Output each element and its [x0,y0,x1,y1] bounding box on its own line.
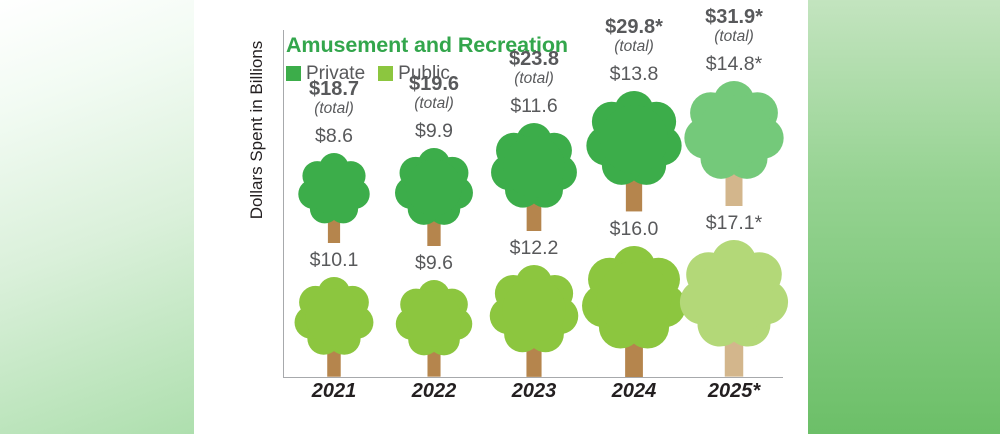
tree-private-2021 [297,153,371,243]
x-axis-label-2021: 2021 [284,380,384,403]
private-value-2021: $8.6 [284,127,384,147]
public-value-2024: $16.0 [584,220,684,240]
chart-plot-area: $10.1$8.6$18.7(total)2021$9.6$9.9$19.6(t… [284,0,784,434]
public-value-2023: $12.2 [484,239,584,259]
infographic-chart: Amusement and Recreation Private Public … [0,0,1000,434]
year-column-2024: $16.0$13.8$29.8*(total)2024 [584,0,684,434]
private-value-2022: $9.9 [384,122,484,142]
total-value-2021: $18.7 [284,79,384,100]
public-value-2022: $9.6 [384,254,484,274]
decorative-left-panel [0,0,194,434]
tree-private-2023 [490,123,579,232]
total-label-2024: $29.8*(total) [584,17,684,56]
year-column-2023: $12.2$11.6$23.8(total)2023 [484,0,584,434]
tree-private-2024 [585,91,684,211]
total-value-2024: $29.8* [584,17,684,38]
total-word-2024: (total) [584,38,684,56]
total-value-2023: $23.8 [484,49,584,70]
x-axis-label-2022: 2022 [384,380,484,403]
x-axis-label-2025: 2025* [684,380,784,403]
tree-public-2022 [394,280,473,377]
total-value-2022: $19.6 [384,74,484,95]
year-column-2022: $9.6$9.9$19.6(total)2022 [384,0,484,434]
tree-public-2024 [580,246,688,377]
x-axis-label-2023: 2023 [484,380,584,403]
total-word-2021: (total) [284,100,384,118]
tree-public-2023 [488,265,580,377]
x-axis-label-2024: 2024 [584,380,684,403]
total-label-2022: $19.6(total) [384,74,484,113]
public-value-2025: $17.1* [684,214,784,234]
year-column-2025: $17.1*$14.8*$31.9*(total)2025* [684,0,784,434]
tree-public-2021 [293,277,375,377]
tree-private-2022 [394,148,475,247]
year-column-2021: $10.1$8.6$18.7(total)2021 [284,0,384,434]
total-word-2023: (total) [484,70,584,88]
private-value-2023: $11.6 [484,97,584,117]
tree-public-2025 [678,240,790,377]
total-label-2025: $31.9*(total) [684,7,784,46]
private-value-2024: $13.8 [584,65,684,85]
total-label-2021: $18.7(total) [284,79,384,118]
public-value-2021: $10.1 [284,251,384,271]
decorative-right-panel [808,0,1000,434]
chart-panel: Amusement and Recreation Private Public … [194,0,808,434]
tree-private-2025 [683,81,786,207]
total-word-2025: (total) [684,28,784,46]
total-label-2023: $23.8(total) [484,49,584,88]
private-value-2025: $14.8* [684,55,784,75]
total-word-2022: (total) [384,95,484,113]
total-value-2025: $31.9* [684,7,784,28]
y-axis-label: Dollars Spent in Billions [247,5,267,255]
